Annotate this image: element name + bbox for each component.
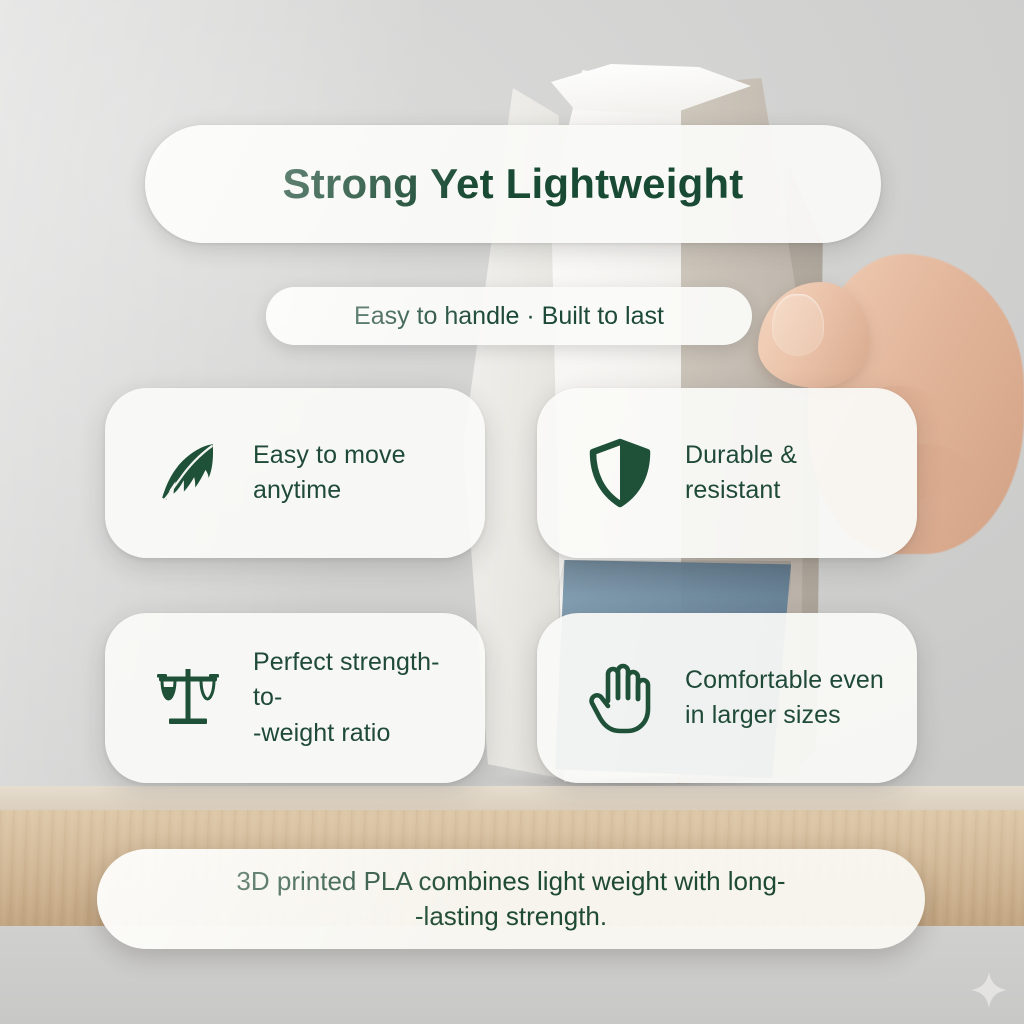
caption-pill: 3D printed PLA combines light weight wit… — [97, 849, 925, 949]
feature-label-line-1: Perfect strength-to- — [253, 645, 459, 716]
feature-label-line-2: resistant — [685, 473, 797, 509]
shield-icon — [581, 431, 659, 515]
title-pill: Strong Yet Lightweight — [145, 125, 881, 243]
feature-card-label: Perfect strength-to- -weight ratio — [253, 645, 459, 752]
feature-label-line-1: Comfortable even — [685, 663, 884, 699]
feature-card-label: Durable & resistant — [685, 438, 797, 509]
page-title: Strong Yet Lightweight — [283, 160, 744, 208]
feature-card-comfortable: Comfortable even in larger sizes — [537, 613, 917, 783]
overlay-layer: Strong Yet Lightweight Easy to handle · … — [0, 0, 1024, 1024]
balance-scale-icon — [149, 656, 227, 740]
feather-icon — [149, 431, 227, 515]
feature-label-line-1: Durable & — [685, 438, 797, 474]
caption-line-2: -lasting strength. — [149, 899, 873, 934]
feature-card-durable: Durable & resistant — [537, 388, 917, 558]
feature-label-line-1: Easy to move — [253, 438, 406, 474]
feature-card-label: Comfortable even in larger sizes — [685, 663, 884, 734]
feature-label-line-2: anytime — [253, 473, 406, 509]
subtitle-pill: Easy to handle · Built to last — [266, 287, 752, 345]
poster-stage: Strong Yet Lightweight Easy to handle · … — [0, 0, 1024, 1024]
feature-label-line-2: in larger sizes — [685, 698, 884, 734]
feature-card-strength-to-weight: Perfect strength-to- -weight ratio — [105, 613, 485, 783]
page-subtitle: Easy to handle · Built to last — [354, 302, 664, 331]
caption-line-1: 3D printed PLA combines light weight wit… — [149, 864, 873, 899]
feature-card-label: Easy to move anytime — [253, 438, 406, 509]
open-hand-icon — [581, 656, 659, 740]
sparkle-icon — [969, 970, 1009, 1010]
feature-card-easy-to-move: Easy to move anytime — [105, 388, 485, 558]
feature-label-line-2: -weight ratio — [253, 716, 459, 752]
